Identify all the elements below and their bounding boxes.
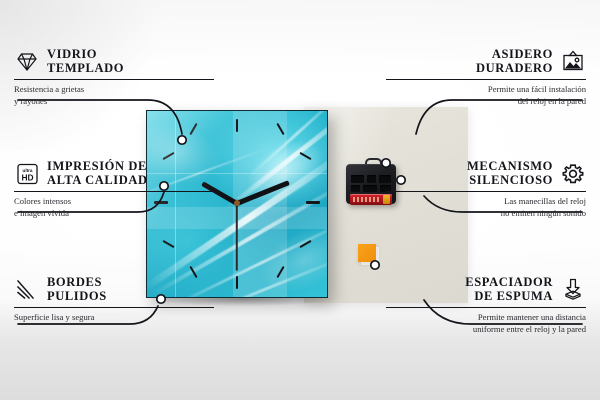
title-line-2: DURADERO xyxy=(476,62,553,76)
feature-divider xyxy=(386,307,586,308)
title-line-1: ASIDERO xyxy=(492,48,553,62)
framed-picture-hook-icon xyxy=(560,50,586,74)
infographic-canvas: VIDRIO TEMPLADO Resistencia a grietas y … xyxy=(0,0,600,400)
title-line-2: PULIDOS xyxy=(47,290,107,304)
down-arrow-pad-icon xyxy=(560,278,586,302)
title-line-1: BORDES xyxy=(47,276,107,290)
feature-divider xyxy=(386,79,586,80)
feature-heading: ESPACIADOR DE ESPUMA xyxy=(386,276,586,303)
desc-line-2: no emiten ningún sonido xyxy=(386,208,586,220)
title-line-1: IMPRESIÓN DE xyxy=(47,160,148,174)
desc-line-2: uniforme entre el reloj y la pared xyxy=(386,324,586,336)
svg-text:HD: HD xyxy=(21,172,33,182)
feature-description: Superficie lisa y segura xyxy=(14,312,214,324)
gear-icon xyxy=(560,162,586,186)
feature-mecanismo-silencioso: MECANISMO SILENCIOSO Las manecillas del … xyxy=(386,160,586,220)
feature-vidrio-templado: VIDRIO TEMPLADO Resistencia a grietas y … xyxy=(14,48,214,108)
desc-line-1: Superficie lisa y segura xyxy=(14,312,214,324)
desc-line-2: e imagen vívida xyxy=(14,208,214,220)
feature-divider xyxy=(386,191,586,192)
feature-heading: VIDRIO TEMPLADO xyxy=(14,48,214,75)
diamond-icon xyxy=(14,50,40,74)
desc-line-1: Las manecillas del reloj xyxy=(386,196,586,208)
feature-title: BORDES PULIDOS xyxy=(47,276,107,303)
title-line-1: ESPACIADOR xyxy=(465,276,553,290)
feature-title: ESPACIADOR DE ESPUMA xyxy=(465,276,553,303)
feature-bordes-pulidos: BORDES PULIDOS Superficie lisa y segura xyxy=(14,276,214,324)
feature-title: MECANISMO SILENCIOSO xyxy=(467,160,553,187)
feature-divider xyxy=(14,79,214,80)
feature-description: Permite mantener una distancia uniforme … xyxy=(386,312,586,335)
feature-title: VIDRIO TEMPLADO xyxy=(47,48,124,75)
feature-heading: BORDES PULIDOS xyxy=(14,276,214,303)
feature-title: IMPRESIÓN DE ALTA CALIDAD xyxy=(47,160,148,187)
feature-heading: ASIDERO DURADERO xyxy=(386,48,586,75)
title-line-1: MECANISMO xyxy=(467,160,553,174)
feature-title: ASIDERO DURADERO xyxy=(476,48,553,75)
feature-espaciador-de-espuma: ESPACIADOR DE ESPUMA Permite mantener un… xyxy=(386,276,586,336)
desc-line-1: Permite mantener una distancia xyxy=(386,312,586,324)
desc-line-1: Permite una fácil instalación xyxy=(386,84,586,96)
feature-asidero-duradero: ASIDERO DURADERO Permite una fácil insta… xyxy=(386,48,586,108)
foam-spacer xyxy=(358,244,376,262)
desc-line-2: y rayones xyxy=(14,96,214,108)
polished-edge-lines-icon xyxy=(14,278,40,302)
feature-heading: MECANISMO SILENCIOSO xyxy=(386,160,586,187)
title-line-2: TEMPLADO xyxy=(47,62,124,76)
feature-description: Resistencia a grietas y rayones xyxy=(14,84,214,107)
feature-description: Colores intensos e imagen vívida xyxy=(14,196,214,219)
feature-description: Las manecillas del reloj no emiten ningú… xyxy=(386,196,586,219)
desc-line-2: del reloj en la pared xyxy=(386,96,586,108)
title-line-2: ALTA CALIDAD xyxy=(47,174,148,188)
title-line-2: SILENCIOSO xyxy=(469,174,553,188)
title-line-2: DE ESPUMA xyxy=(474,290,553,304)
desc-line-1: Colores intensos xyxy=(14,196,214,208)
feature-heading: ultra HD IMPRESIÓN DE ALTA CALIDAD xyxy=(14,160,214,187)
feature-impresion-alta-calidad: ultra HD IMPRESIÓN DE ALTA CALIDAD Color… xyxy=(14,160,214,220)
feature-divider xyxy=(14,191,214,192)
desc-line-1: Resistencia a grietas xyxy=(14,84,214,96)
ultra-hd-icon: ultra HD xyxy=(14,162,40,186)
title-line-1: VIDRIO xyxy=(47,48,124,62)
feature-divider xyxy=(14,307,214,308)
feature-description: Permite una fácil instalación del reloj … xyxy=(386,84,586,107)
